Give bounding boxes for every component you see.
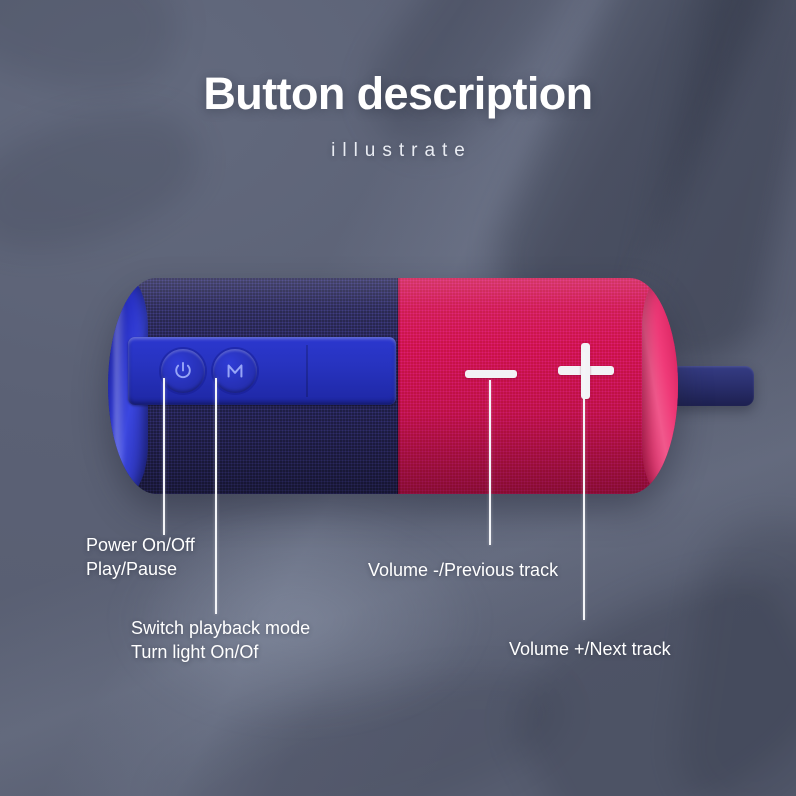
- mode-m-icon: [224, 360, 246, 382]
- right-end-cap: [642, 278, 678, 494]
- caption-power-line1: Power On/Off: [86, 533, 195, 557]
- strip-notch: [306, 345, 308, 397]
- caption-power-line2: Play/Pause: [86, 557, 195, 581]
- mode-button[interactable]: [213, 349, 257, 393]
- leader-line-volume-up: [583, 352, 585, 620]
- page-subtitle: illustrate: [0, 140, 796, 162]
- caption-mode: Switch playback mode Turn light On/Of: [131, 616, 310, 664]
- caption-volume-down: Volume -/Previous track: [368, 558, 558, 582]
- caption-volume-down-line1: Volume -/Previous track: [368, 558, 558, 582]
- caption-power: Power On/Off Play/Pause: [86, 533, 195, 581]
- leader-line-volume-down: [489, 380, 491, 545]
- page-title: Button description: [0, 68, 796, 120]
- speaker-product-image: [108, 278, 678, 494]
- caption-volume-up-line1: Volume +/Next track: [509, 637, 671, 661]
- speaker-body: [108, 278, 678, 494]
- caption-mode-line2: Turn light On/Of: [131, 640, 310, 664]
- minus-icon[interactable]: [465, 370, 517, 378]
- infographic-canvas: Button description illustrate: [0, 0, 796, 796]
- power-button[interactable]: [161, 349, 205, 393]
- power-icon: [172, 360, 194, 382]
- caption-volume-up: Volume +/Next track: [509, 637, 671, 661]
- caption-mode-line1: Switch playback mode: [131, 616, 310, 640]
- left-cap-highlight: [114, 300, 126, 472]
- wrist-strap: [672, 366, 754, 406]
- leader-line-mode: [215, 378, 217, 614]
- control-strip: [128, 337, 396, 405]
- leader-line-power: [163, 378, 165, 535]
